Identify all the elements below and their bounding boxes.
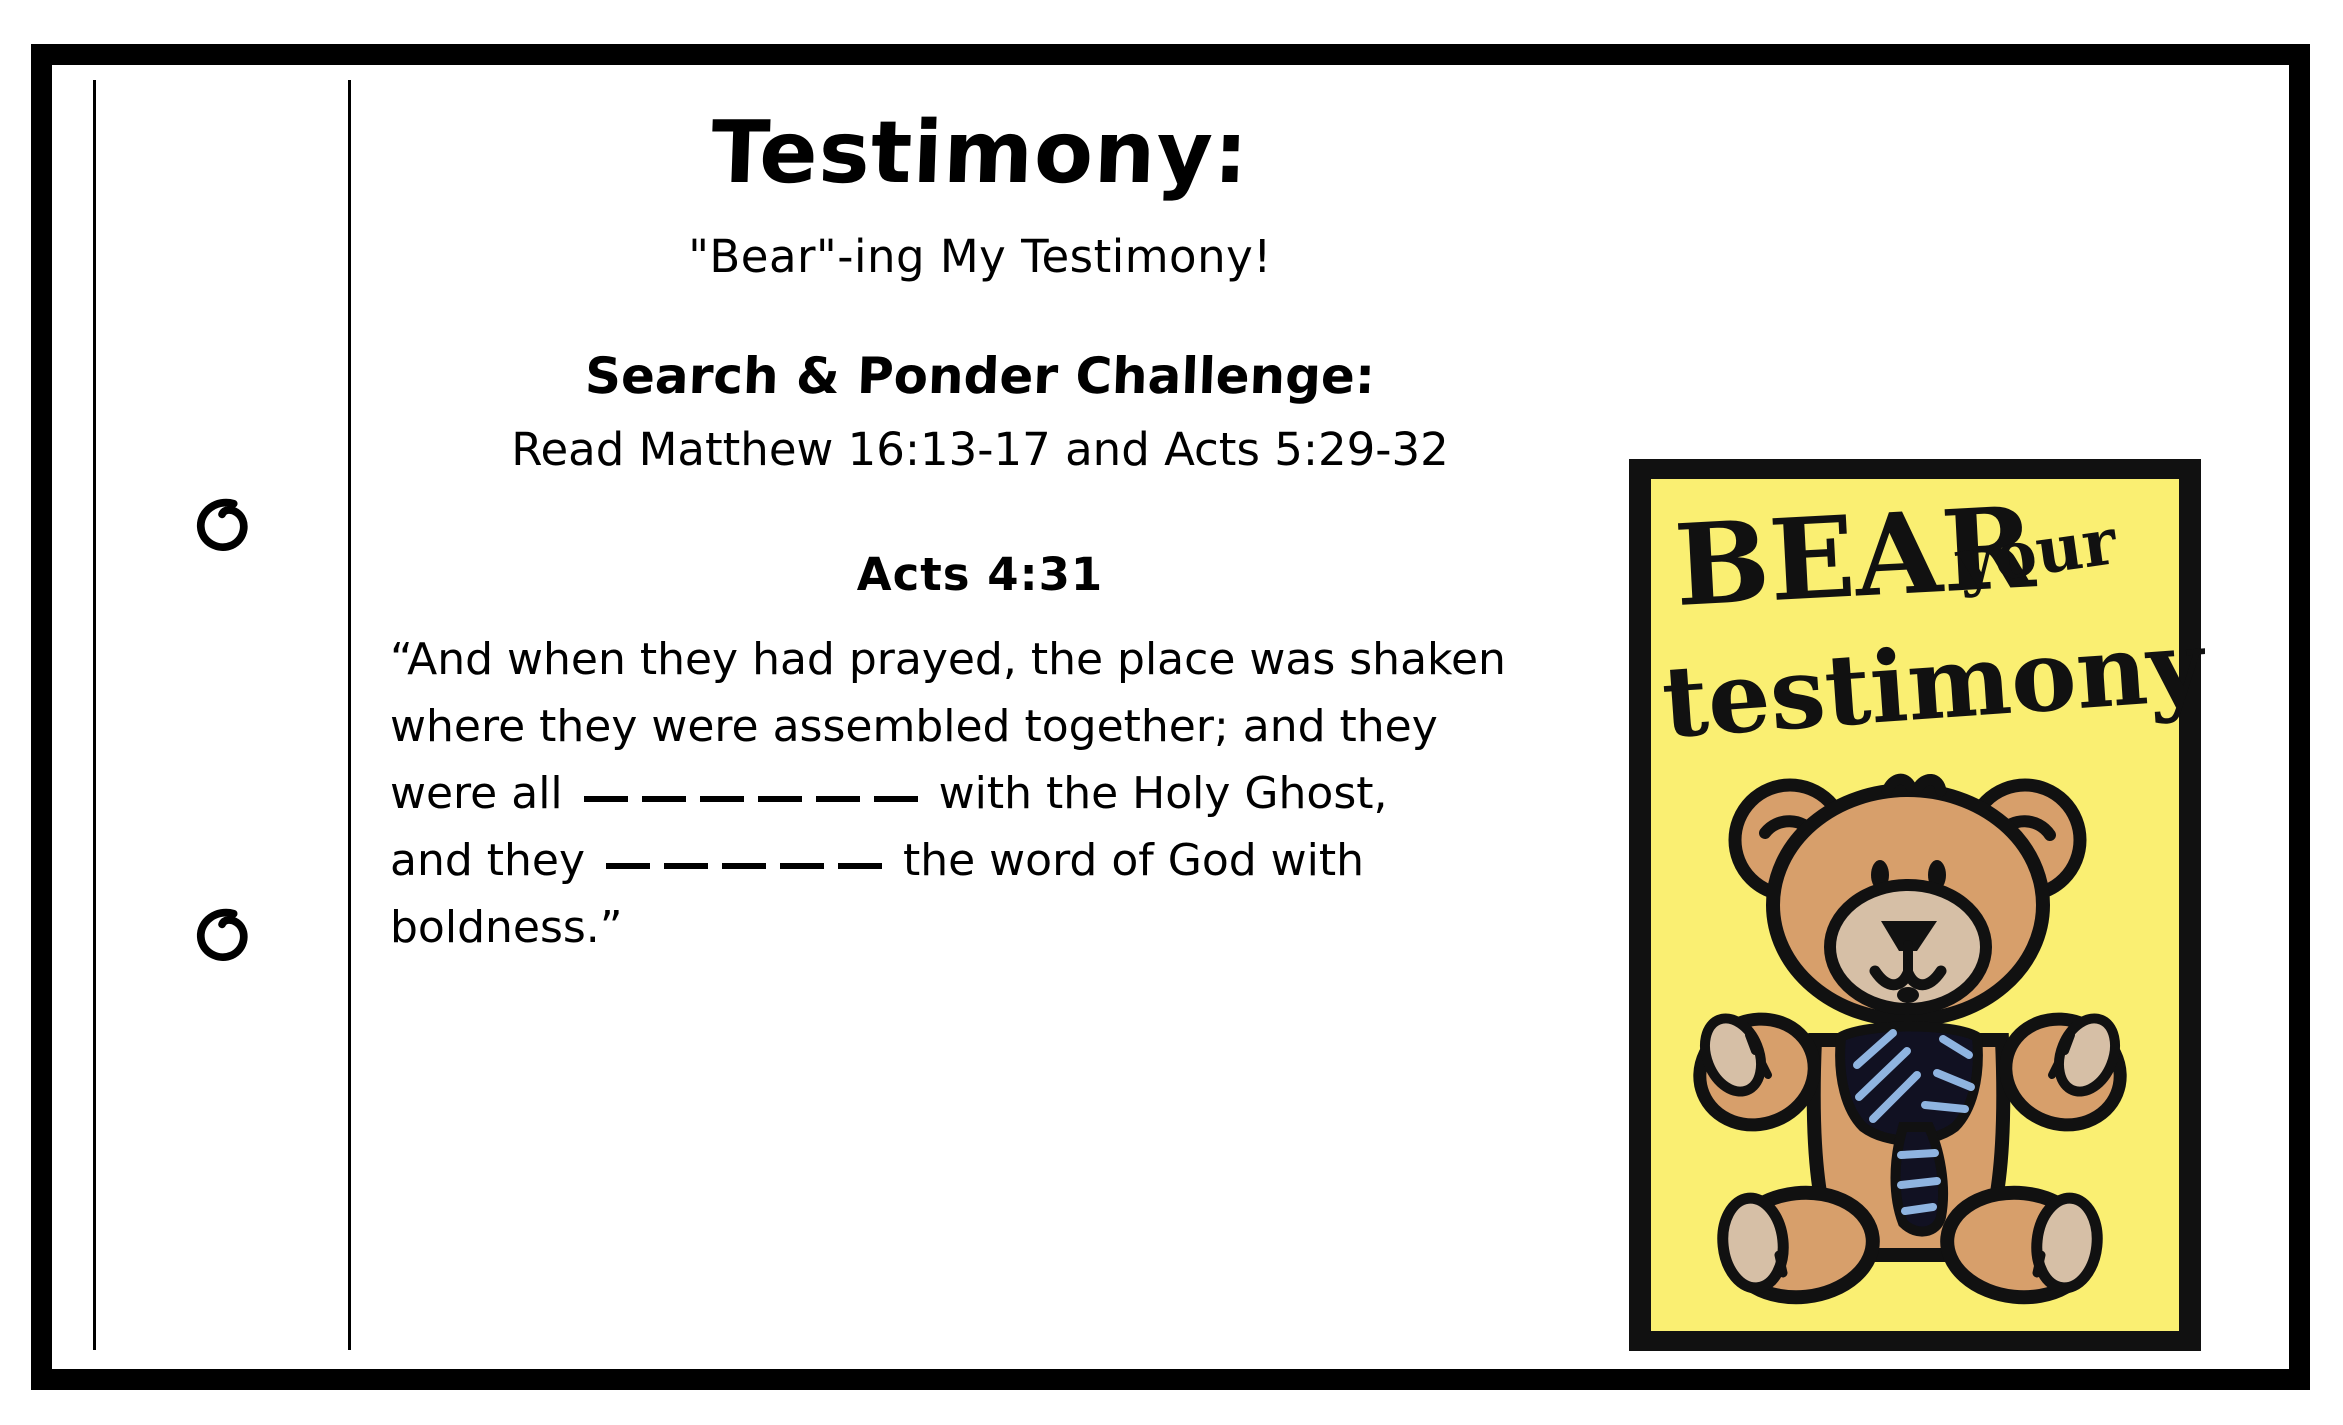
- answer-blank[interactable]: [664, 863, 708, 869]
- binder-hole-icon: [195, 495, 253, 553]
- scripture-line-text: where they were assembled together; and …: [390, 701, 1438, 752]
- page-title: Testimony:: [378, 110, 1581, 196]
- bear-testimony-clipart: BEAR your testimony!: [1625, 455, 2205, 1355]
- answer-blank[interactable]: [642, 796, 686, 802]
- margin-rule-line-left: [93, 80, 96, 1350]
- scripture-line-suffix: the word of God with: [889, 835, 1364, 886]
- scripture-reference: Acts 4:31: [380, 548, 1580, 601]
- answer-blank[interactable]: [838, 863, 882, 869]
- scripture-line: “And when they had prayed, the place was…: [390, 627, 1580, 694]
- answer-blank[interactable]: [700, 796, 744, 802]
- answer-blank-group[interactable]: [577, 761, 925, 828]
- binder-hole-icon: [195, 905, 253, 963]
- challenge-heading: Search & Ponder Challenge:: [379, 347, 1581, 405]
- page-subtitle: "Bear"-ing My Testimony!: [380, 230, 1580, 283]
- scripture-body: “And when they had prayed, the place was…: [380, 627, 1580, 961]
- answer-blank[interactable]: [722, 863, 766, 869]
- answer-blank[interactable]: [758, 796, 802, 802]
- worksheet-page: Testimony: "Bear"-ing My Testimony! Sear…: [0, 0, 2343, 1425]
- answer-blank-group[interactable]: [599, 828, 889, 895]
- challenge-reference: Read Matthew 16:13-17 and Acts 5:29-32: [380, 423, 1580, 476]
- answer-blank[interactable]: [874, 796, 918, 802]
- scripture-line-prefix: and they: [390, 835, 599, 886]
- answer-blank[interactable]: [584, 796, 628, 802]
- scripture-line-text: “And when they had prayed, the place was…: [390, 634, 1506, 685]
- scripture-line: were all with the Holy Ghost,: [390, 761, 1580, 828]
- answer-blank[interactable]: [780, 863, 824, 869]
- scripture-line: and they the word of God with: [390, 828, 1580, 895]
- scripture-line: boldness.”: [390, 895, 1580, 962]
- worksheet-content: Testimony: "Bear"-ing My Testimony! Sear…: [380, 70, 1580, 1320]
- teddy-bear-illustration: [1684, 779, 2137, 1304]
- scripture-line-text: boldness.”: [390, 902, 623, 953]
- answer-blank[interactable]: [816, 796, 860, 802]
- scripture-line: where they were assembled together; and …: [390, 694, 1580, 761]
- answer-blank[interactable]: [606, 863, 650, 869]
- scripture-line-prefix: were all: [390, 768, 577, 819]
- scripture-line-suffix: with the Holy Ghost,: [925, 768, 1388, 819]
- margin-rule-line-right: [348, 80, 351, 1350]
